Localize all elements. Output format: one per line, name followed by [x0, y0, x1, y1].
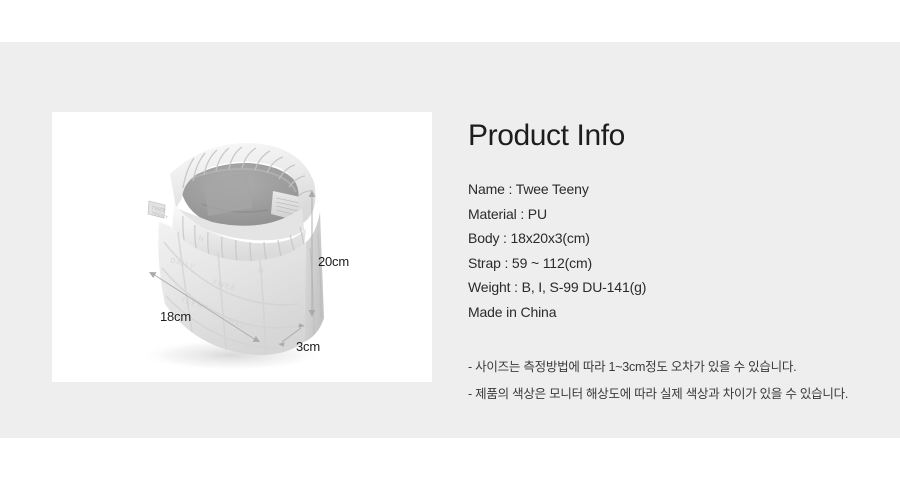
product-photo: DAILY TWEE TEENY DAILY N N [52, 112, 432, 382]
page-title: Product Info [468, 116, 868, 154]
side-tab-loop: TWEE TEENY [148, 201, 169, 221]
svg-text:TEENY: TEENY [151, 211, 170, 221]
dimension-label-height: 20cm [318, 254, 349, 269]
spec-item-name: Name : Twee Teeny [468, 177, 868, 202]
dimension-label-width: 18cm [160, 309, 191, 324]
note-item-color-monitor: - 제품의 색상은 모니터 해상도에 따라 실제 색상과 차이가 있을 수 있습… [468, 381, 868, 408]
product-info-column: Product Info Name : Twee Teeny Material … [468, 116, 868, 408]
spec-item-body: Body : 18x20x3(cm) [468, 226, 868, 251]
spec-list: Name : Twee Teeny Material : PU Body : 1… [468, 177, 868, 325]
content-band: DAILY TWEE TEENY DAILY N N [0, 42, 900, 438]
spec-item-material: Material : PU [468, 202, 868, 227]
bag-side-gusset [304, 212, 324, 342]
dimension-label-depth: 3cm [296, 339, 320, 354]
note-item-size-tolerance: - 사이즈는 측정방법에 따라 1~3cm정도 오차가 있을 수 있습니다. [468, 354, 868, 381]
spec-item-origin: Made in China [468, 300, 868, 325]
spec-item-weight: Weight : B, I, S-99 DU-141(g) [468, 275, 868, 300]
spec-item-strap: Strap : 59 ~ 112(cm) [468, 251, 868, 276]
product-image-panel: DAILY TWEE TEENY DAILY N N [52, 112, 432, 382]
notes-list: - 사이즈는 측정방법에 따라 1~3cm정도 오차가 있을 수 있습니다. -… [468, 354, 868, 408]
